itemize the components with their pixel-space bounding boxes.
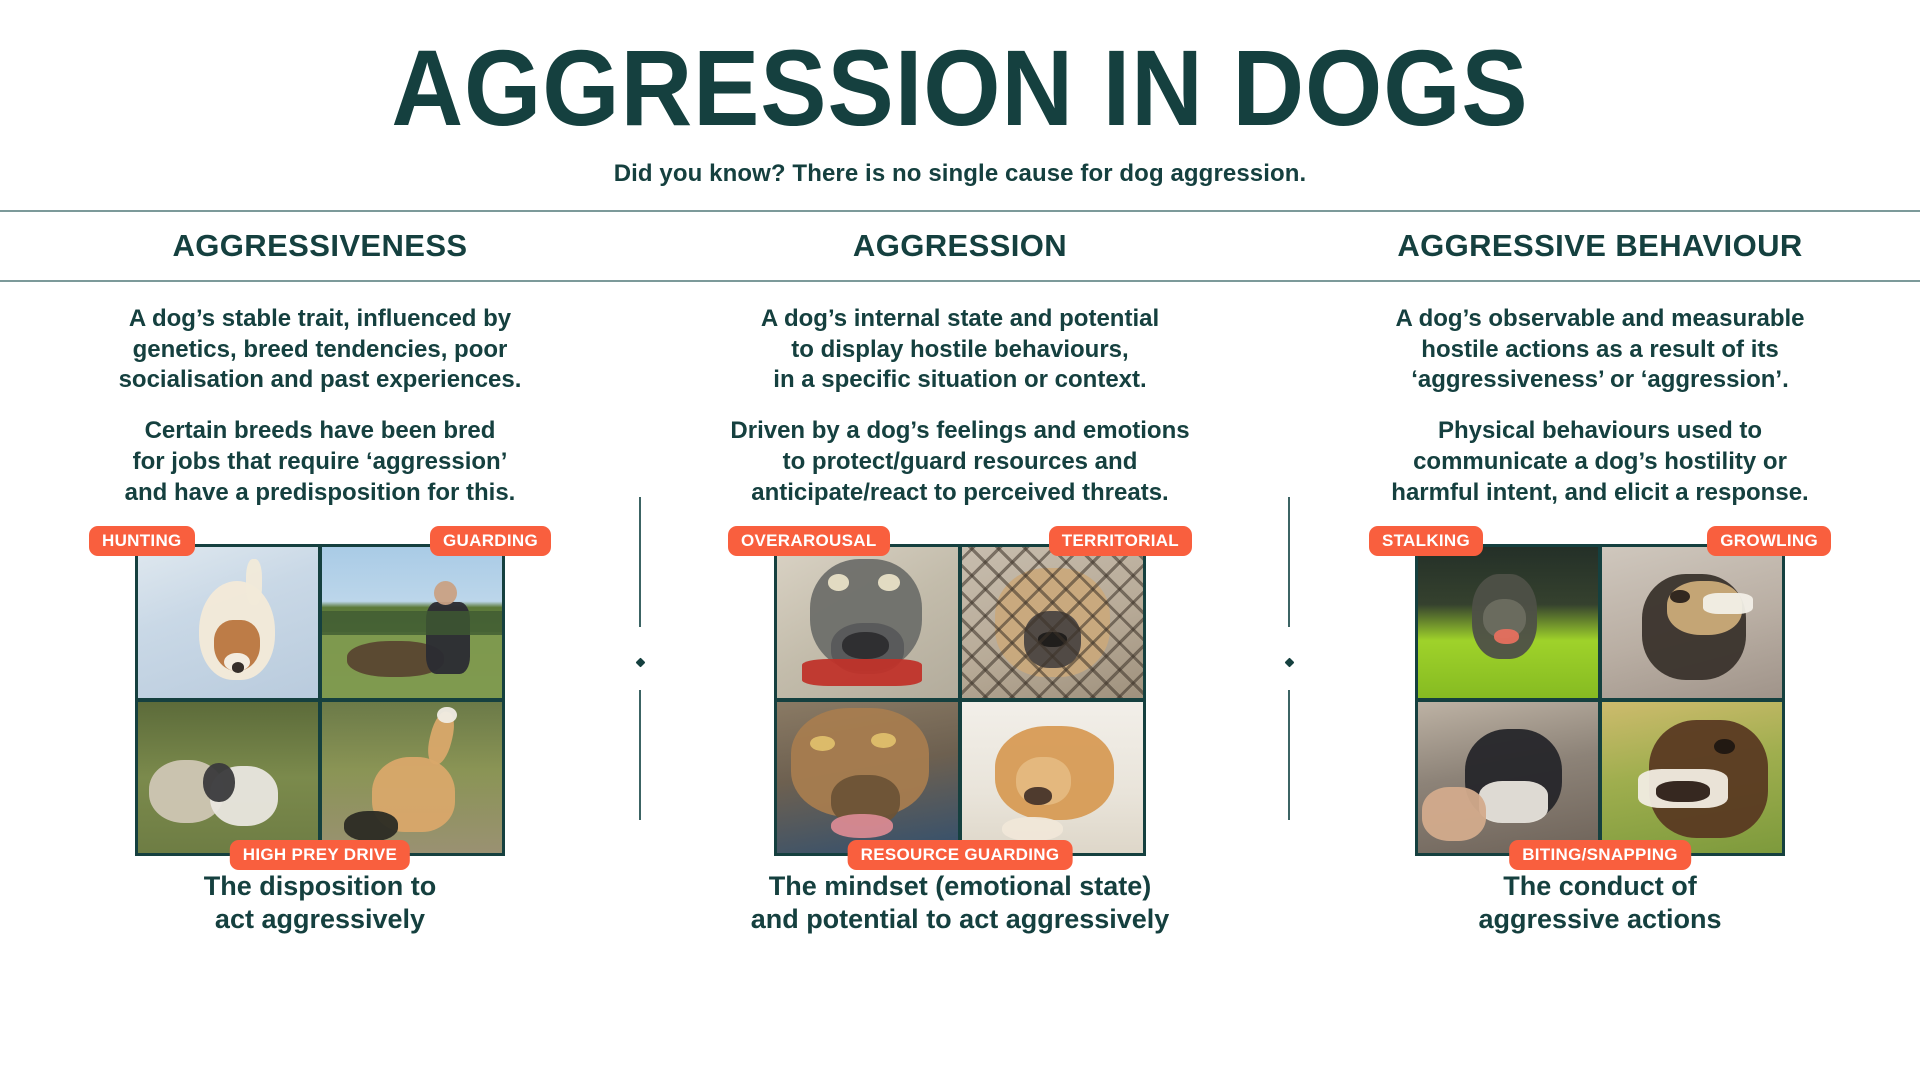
photo-dog-biting-hand bbox=[1418, 702, 1598, 853]
badge-territorial: TERRITORIAL bbox=[1049, 526, 1192, 556]
badge-hunting: HUNTING bbox=[89, 526, 195, 556]
column-3-paragraph-1: A dog’s observable and measurable hostil… bbox=[1395, 304, 1804, 396]
photo-staffie-stalking-across-lawn bbox=[1418, 547, 1598, 698]
badge-guarding: GUARDING bbox=[430, 526, 551, 556]
column-heading-aggression: AGGRESSION bbox=[640, 228, 1280, 264]
badge-high-prey-drive: HIGH PREY DRIVE bbox=[230, 840, 410, 870]
photo-jack-russell-hunting-in-snow bbox=[138, 547, 318, 698]
column-aggression: A dog’s internal state and potential to … bbox=[640, 282, 1280, 936]
column-2-paragraph-1: A dog’s internal state and potential to … bbox=[761, 304, 1159, 396]
column-1-paragraph-1: A dog’s stable trait, influenced by gene… bbox=[119, 304, 522, 396]
photo-german-shepherd-guard-training bbox=[322, 547, 502, 698]
photo-grid-3 bbox=[1415, 544, 1785, 856]
column-3-caption: The conduct of aggressive actions bbox=[1478, 870, 1721, 936]
page-subtitle: Did you know? There is no single cause f… bbox=[0, 160, 1920, 188]
column-2-caption: The mindset (emotional state) and potent… bbox=[751, 870, 1170, 936]
column-heading-aggressive-behaviour: AGGRESSIVE BEHAVIOUR bbox=[1280, 228, 1920, 264]
column-heading-row: AGGRESSIVENESS AGGRESSION AGGRESSIVE BEH… bbox=[0, 212, 1920, 280]
column-2-paragraph-2: Driven by a dog’s feelings and emotions … bbox=[730, 416, 1189, 508]
photo-grid-2 bbox=[774, 544, 1146, 856]
badge-growling: GROWLING bbox=[1707, 526, 1831, 556]
photo-dog-snapping-with-bared-teeth bbox=[1602, 702, 1782, 853]
photo-dog-showing-teeth-over-toy bbox=[777, 702, 958, 853]
photo-overaroused-dog-with-red-rope-toy bbox=[777, 547, 958, 698]
photo-puppy-guarding-chew bbox=[962, 702, 1143, 853]
photo-grid-wrapper-1: HUNTING GUARDING HIGH PREY DRIVE bbox=[135, 526, 505, 856]
badge-biting-snapping: BITING/SNAPPING bbox=[1509, 840, 1691, 870]
badge-stalking: STALKING bbox=[1369, 526, 1483, 556]
photo-grid-wrapper-2: OVERAROUSAL TERRITORIAL RESOURCE GUARDIN… bbox=[774, 526, 1146, 856]
photo-dog-behind-chain-link-fence bbox=[962, 547, 1143, 698]
column-1-caption: The disposition to act aggressively bbox=[204, 870, 436, 936]
photo-grid-wrapper-3: STALKING GROWLING BITING/SNAPPING bbox=[1415, 526, 1785, 856]
badge-resource-guarding: RESOURCE GUARDING bbox=[848, 840, 1073, 870]
columns-container: A dog’s stable trait, influenced by gene… bbox=[0, 282, 1920, 936]
badge-overarousal: OVERAROUSAL bbox=[728, 526, 890, 556]
page-title: AGGRESSION IN DOGS bbox=[77, 34, 1843, 142]
column-1-paragraph-2: Certain breeds have been bred for jobs t… bbox=[125, 416, 516, 508]
column-aggressiveness: A dog’s stable trait, influenced by gene… bbox=[0, 282, 640, 936]
photo-small-dog-growling-on-lap bbox=[1602, 547, 1782, 698]
column-heading-aggressiveness: AGGRESSIVENESS bbox=[0, 228, 640, 264]
page-header: AGGRESSION IN DOGS Did you know? There i… bbox=[0, 0, 1920, 188]
photo-dog-digging-hole bbox=[322, 702, 502, 853]
photo-grid-1 bbox=[135, 544, 505, 856]
photo-herding-dog-chasing-sheep bbox=[138, 702, 318, 853]
column-3-paragraph-2: Physical behaviours used to communicate … bbox=[1391, 416, 1808, 508]
column-aggressive-behaviour: A dog’s observable and measurable hostil… bbox=[1280, 282, 1920, 936]
